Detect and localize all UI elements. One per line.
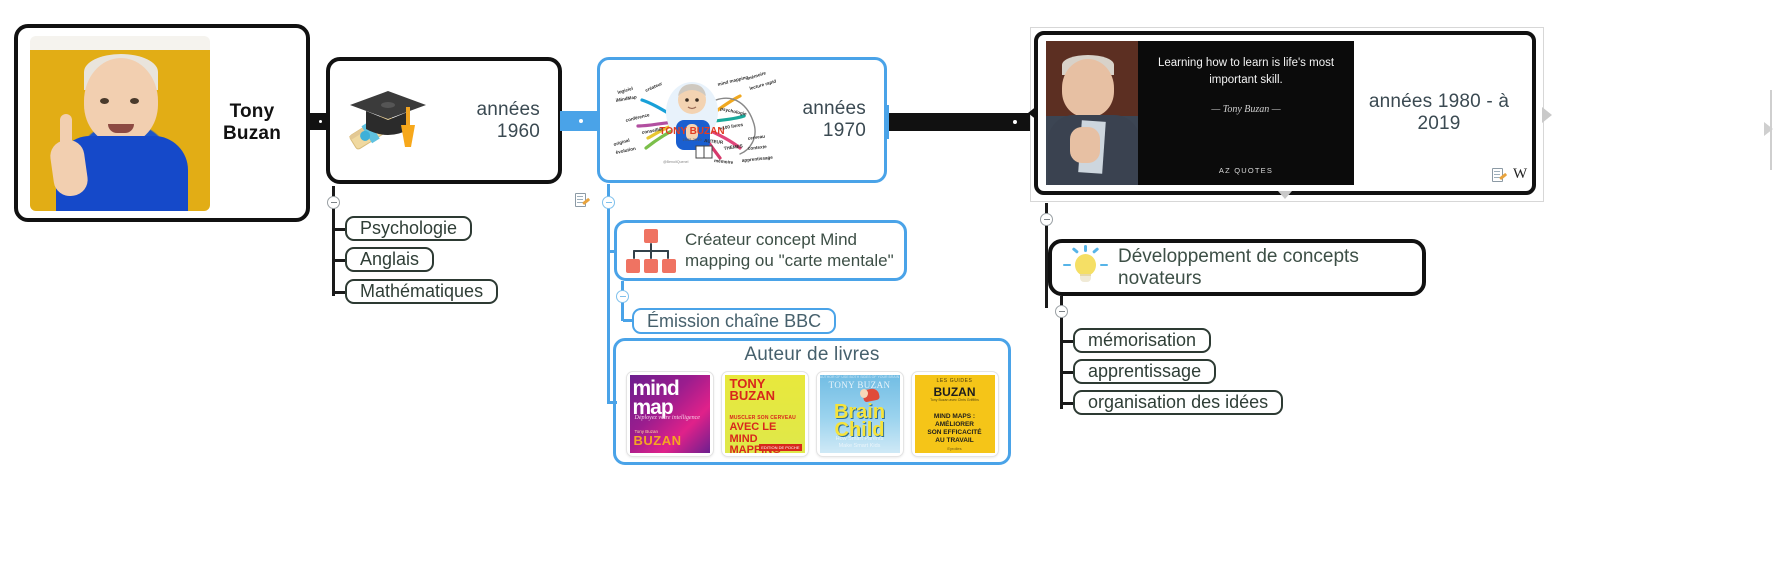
note-icon[interactable] <box>574 193 590 210</box>
node-developpement-concepts[interactable]: Développement de concepts novateurs <box>1048 239 1426 296</box>
book-cover-les-guides-buzan: LES GUIDES BUZAN Tony Buzan avec Chris G… <box>915 375 995 453</box>
book-les-guides-buzan[interactable]: LES GUIDES BUZAN Tony Buzan avec Chris G… <box>911 371 999 457</box>
connector-1970-to-1980 <box>885 113 1035 131</box>
group-auteur-de-livres[interactable]: Auteur de livres mindmap Déployez votre … <box>613 338 1011 465</box>
mindmap-thumbnail: TONY BUZAN 1942-2019 logiciel iMindMap c… <box>608 64 776 176</box>
pill-memorisation[interactable]: mémorisation <box>1073 328 1211 353</box>
collapse-toggle-1960[interactable] <box>327 196 340 209</box>
quote-brand: AZ QUOTES <box>1219 166 1273 179</box>
stub-auteur <box>609 401 617 404</box>
root-title: Tony Buzan <box>210 101 294 145</box>
pill-apprentissage[interactable]: apprentissage <box>1073 359 1216 384</box>
node-1980-label: années 1980 - à 2019 <box>1354 91 1524 135</box>
connector-1960-to-1970 <box>560 111 602 131</box>
pill-anglais[interactable]: Anglais <box>345 247 434 272</box>
node-1980-left-handle[interactable] <box>1028 105 1038 121</box>
node-1970-label: années 1970 <box>776 98 876 142</box>
root-node-tony-buzan[interactable]: Tony Buzan <box>14 24 310 222</box>
svg-text:1942-2019: 1942-2019 <box>682 137 702 142</box>
node-annees-1970[interactable]: TONY BUZAN 1942-2019 logiciel iMindMap c… <box>597 57 887 183</box>
book-cover-mind-map: mindmap Déployez votre intelligence Tony… <box>630 375 710 453</box>
node-developpement-label: Développement de concepts novateurs <box>1108 246 1412 290</box>
note-icon[interactable] <box>1491 168 1507 185</box>
quote-image: Learning how to learn is life's most imp… <box>1046 41 1354 185</box>
quote-author: — Tony Buzan — <box>1211 104 1280 115</box>
spine-1970 <box>607 184 610 404</box>
canvas-expand-arrow[interactable] <box>1764 122 1773 136</box>
node-annees-1980-selection-frame[interactable]: Learning how to learn is life's most imp… <box>1030 27 1544 202</box>
book-list: mindmap Déployez votre intelligence Tony… <box>616 366 1008 457</box>
book-cover-brain-child: AUTHOR OF USE BOTH SIDES OF YOUR BRAIN T… <box>820 375 900 453</box>
pill-psychologie[interactable]: Psychologie <box>345 216 472 241</box>
collapse-toggle-dev[interactable] <box>1055 305 1068 318</box>
quote-photo <box>1046 41 1138 185</box>
node-annees-1960[interactable]: années 1960 <box>326 57 562 184</box>
book-mind-map[interactable]: mindmap Déployez votre intelligence Tony… <box>626 371 714 457</box>
group-auteur-title: Auteur de livres <box>616 341 1008 366</box>
collapse-toggle-1970[interactable] <box>602 196 615 209</box>
pill-mathematiques[interactable]: Mathématiques <box>345 279 498 304</box>
node-1980-bottom-handle[interactable] <box>1278 191 1292 199</box>
graduation-cap-icon <box>340 73 436 169</box>
node-createur-label: Créateur concept Mind mapping ou "carte … <box>677 230 896 271</box>
book-brain-child[interactable]: AUTHOR OF USE BOTH SIDES OF YOUR BRAIN T… <box>816 371 904 457</box>
tony-buzan-photo <box>30 36 210 211</box>
org-chart-icon <box>625 229 677 273</box>
node-1980-right-handle[interactable] <box>1542 107 1552 123</box>
mindmap-canvas[interactable]: Tony Buzan années 1960 <box>0 0 1782 573</box>
wikipedia-icon[interactable]: W <box>1513 166 1527 183</box>
collapse-toggle-1980[interactable] <box>1040 213 1053 226</box>
svg-text:TONY BUZAN: TONY BUZAN <box>659 126 724 137</box>
pill-emission-bbc[interactable]: Émission chaîne BBC <box>632 308 836 334</box>
node-annees-1980[interactable]: Learning how to learn is life's most imp… <box>1034 31 1536 195</box>
quote-text: Learning how to learn is life's most imp… <box>1148 55 1344 88</box>
svg-text:@BenoitQuenel: @BenoitQuenel <box>663 160 689 164</box>
collapse-toggle-emission[interactable] <box>616 290 629 303</box>
book-muscler-son-cerveau[interactable]: TONYBUZAN MUSCLER SON CERVEAU AVEC LE MI… <box>721 371 809 457</box>
node-createur-mind-mapping[interactable]: Créateur concept Mind mapping ou "carte … <box>614 220 907 281</box>
book-cover-muscler-son-cerveau: TONYBUZAN MUSCLER SON CERVEAU AVEC LE MI… <box>725 375 805 453</box>
lightbulb-icon <box>1062 245 1108 291</box>
pill-organisation-idees[interactable]: organisation des idées <box>1073 390 1283 415</box>
node-1960-label: années 1960 <box>436 99 548 143</box>
